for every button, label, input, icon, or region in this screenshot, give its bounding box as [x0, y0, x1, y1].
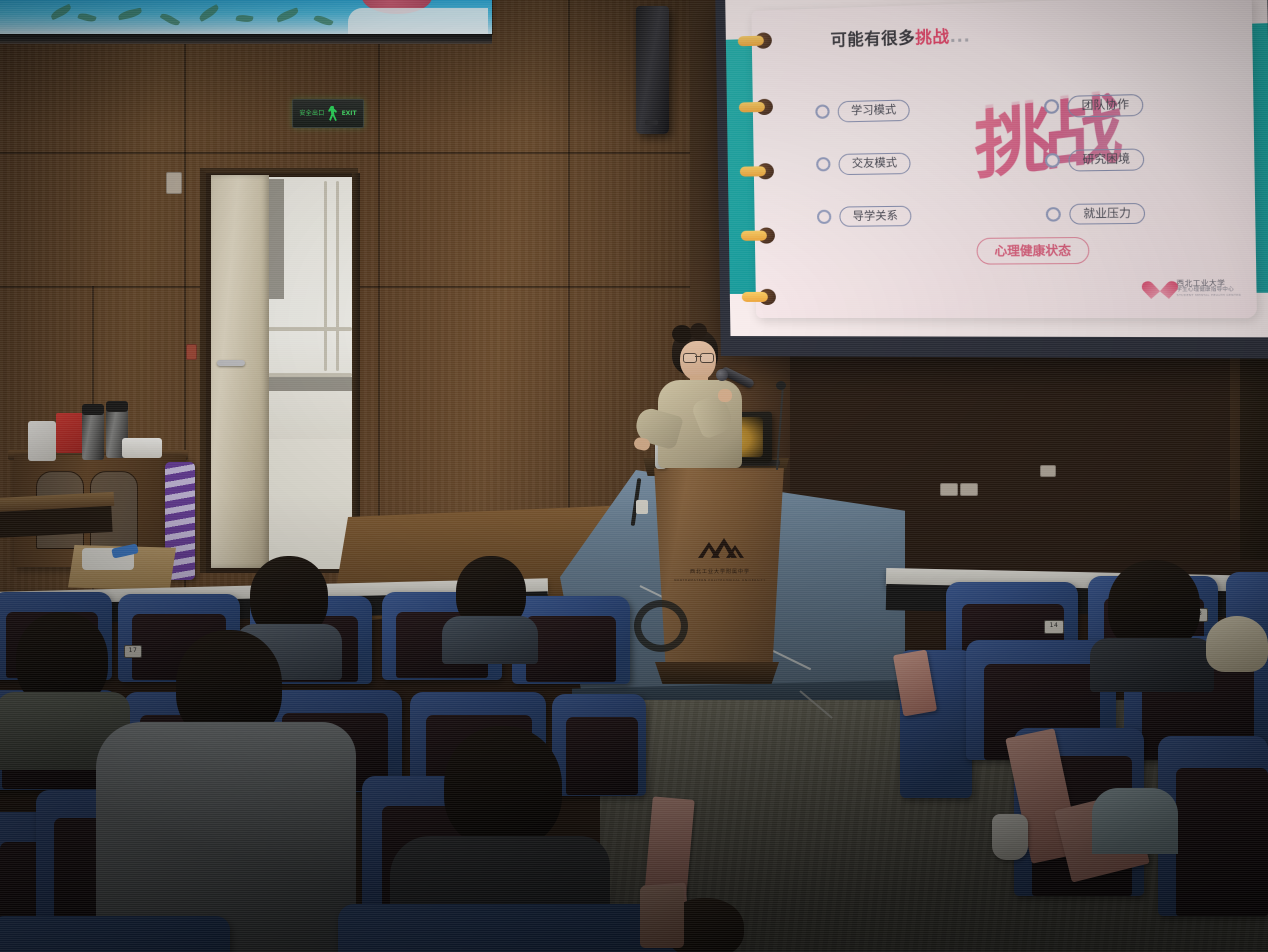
door-panel[interactable]: [211, 175, 269, 568]
white-sneaker: [992, 814, 1028, 860]
thermos-cap-right: [106, 401, 128, 412]
slide-center-pill[interactable]: 心理健康状态: [976, 237, 1089, 265]
emergency-exit-sign: 安全出口 EXIT: [292, 99, 364, 128]
door-handle-icon[interactable]: [217, 360, 245, 366]
binder-ring-1: [738, 32, 772, 49]
presenter-hair-bun-right: [690, 323, 707, 339]
slide-tag-item[interactable]: 交友模式: [816, 152, 911, 175]
binder-ring-5: [742, 289, 776, 305]
cable-coil: [634, 600, 688, 652]
slide-tag-label: 交友模式: [838, 152, 910, 174]
white-bag[interactable]: [28, 421, 56, 461]
tissue-box[interactable]: [122, 438, 162, 458]
bullet-icon: [1046, 207, 1061, 222]
podium-org-name: 西北工业大学附属中学: [670, 568, 770, 575]
wall-outlet-far[interactable]: [1040, 465, 1056, 477]
wall-switch-plate[interactable]: [166, 172, 182, 194]
slide-tag-item[interactable]: 学习模式: [815, 99, 910, 122]
microphone-head-icon: [716, 369, 728, 381]
wall-speaker-icon: [636, 6, 669, 134]
binder-ring-4: [741, 227, 775, 243]
bullet-icon: [817, 210, 831, 224]
lecture-hall-screenshot: 安全出口 EXIT: [0, 0, 1268, 952]
door-frame-edge: [352, 173, 360, 573]
slide-university-logo: 西北工业大学 学生心理健康指导中心 STUDENT MENTAL HEALTH …: [1148, 278, 1241, 299]
slide-tag-label: 导学关系: [839, 205, 911, 227]
slide-title: 可能有很多挑战...: [830, 22, 970, 51]
thermos-cap-left: [82, 404, 104, 415]
binder-ring-2: [739, 99, 773, 116]
secondary-display-banner: [0, 0, 492, 34]
glasses-icon: [683, 353, 714, 361]
podium-org-sub: NORTHWESTERN POLYTECHNICAL UNIVERSITY: [670, 578, 770, 582]
banner-frame: [0, 34, 492, 44]
slide-title-plain: 可能有很多: [830, 28, 915, 50]
running-man-icon: [328, 106, 339, 121]
slide-tag-label: 学习模式: [838, 99, 910, 122]
slide-tag-item[interactable]: 团队协作: [1044, 94, 1143, 118]
wall-outlet-right[interactable]: [960, 483, 978, 496]
podium-base: [655, 662, 779, 684]
slide-tag-label: 团队协作: [1067, 94, 1143, 117]
slide-tag-label: 就业压力: [1069, 202, 1145, 224]
seat-foreground-left[interactable]: [0, 916, 230, 952]
slide-title-highlight: 挑战: [915, 27, 950, 47]
presenter: [634, 325, 754, 473]
thermos-left[interactable]: [82, 408, 104, 460]
projection-screen: 可能有很多挑战... 挑战 学习模式 交友模式 导学关系: [715, 0, 1268, 359]
slide-left-column: 学习模式 交友模式 导学关系: [815, 99, 912, 258]
binder-ring-3: [740, 163, 774, 180]
heart-logo-icon: [1148, 278, 1172, 299]
slide-right-column: 团队协作 研究困境 就业压力: [1044, 94, 1146, 257]
slide-tag-label: 研究困境: [1068, 148, 1144, 171]
exit-sign-chinese-label: 安全出口: [299, 111, 324, 117]
presenter-hair-bun-left: [672, 325, 692, 343]
slide-tag-item[interactable]: 就业压力: [1046, 202, 1146, 225]
microphone-stand-head-icon: [776, 381, 786, 390]
podium: 西北工业大学附属中学 NORTHWESTERN POLYTECHNICAL UN…: [650, 468, 788, 683]
bullet-icon: [1045, 153, 1060, 168]
bullet-icon: [1044, 99, 1059, 114]
bullet-icon: [816, 157, 830, 171]
podium-mountain-logo-icon: [698, 536, 744, 566]
seat-number-plate: 14: [1044, 620, 1064, 634]
foreground-desk[interactable]: [640, 886, 684, 948]
exit-sign-english-label: EXIT: [342, 111, 357, 117]
banner-white-card: [348, 8, 488, 34]
fire-alarm-plate[interactable]: [186, 344, 197, 360]
seat-foreground[interactable]: [338, 904, 678, 952]
logo-line-3: STUDENT MENTAL HEALTH CENTER: [1177, 294, 1241, 298]
wall-outlet-left[interactable]: [940, 483, 958, 496]
slide-title-ellipsis: ...: [949, 26, 970, 46]
slide-tag-item[interactable]: 导学关系: [817, 205, 912, 227]
bullet-icon: [815, 105, 829, 119]
slide-tag-item[interactable]: 研究困境: [1045, 148, 1144, 171]
doorway: [200, 168, 358, 573]
hallway-light: [266, 177, 354, 569]
presenter-right-hand: [718, 389, 732, 402]
seat-number-plate: 17: [124, 645, 142, 658]
slide-notepad-page: 可能有很多挑战... 挑战 学习模式 交友模式 导学关系: [751, 0, 1257, 318]
power-socket[interactable]: [636, 500, 648, 514]
